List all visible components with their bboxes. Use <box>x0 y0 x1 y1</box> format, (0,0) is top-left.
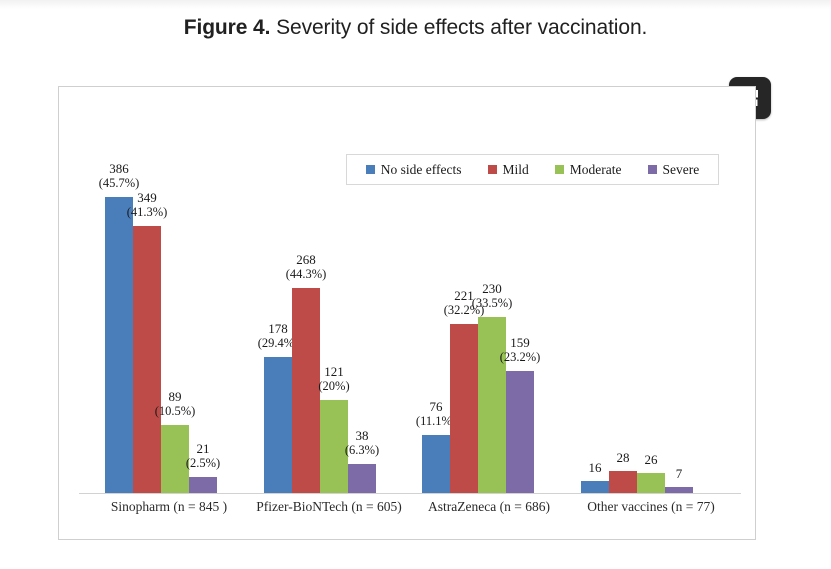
bar-severe[interactable]: 21 (2.5%) <box>189 477 217 493</box>
bar-mild[interactable]: 268 (44.3%) <box>292 288 320 493</box>
bar-label-no-side-effects: 386 (45.7%) <box>99 161 140 191</box>
chart-legend: No side effects Mild Moderate Severe <box>346 154 719 185</box>
page-title: Figure 4. Severity of side effects after… <box>0 16 831 40</box>
x-label-other-vaccines: Other vaccines (n = 77) <box>561 499 741 515</box>
bar-label-severe: 7 <box>676 466 683 481</box>
bar-severe[interactable]: 159 (23.2%) <box>506 371 534 493</box>
bar-label-moderate: 26 <box>645 452 658 467</box>
figure-caption: Severity of side effects after vaccinati… <box>270 16 647 39</box>
x-label-sinopharm: Sinopharm (n = 845 ) <box>79 499 259 515</box>
bar-severe[interactable]: 7 <box>665 487 693 493</box>
bar-chart: No side effects Mild Moderate Severe 386… <box>59 87 757 541</box>
legend-label-moderate: Moderate <box>570 162 622 178</box>
bar-group-astrazeneca: 76 (11.1%) 221 (32.2%) 230 (33.5%) <box>422 317 534 493</box>
bar-mild[interactable]: 221 (32.2%) <box>450 324 478 493</box>
bar-label-moderate: 230 (33.5%) <box>472 281 513 311</box>
legend-swatch-mild <box>488 165 497 174</box>
bar-label-severe: 21 (2.5%) <box>186 441 220 471</box>
legend-item-mild: Mild <box>488 162 529 178</box>
bar-group-sinopharm: 386 (45.7%) 349 (41.3%) 89 (10.5%) <box>105 197 217 493</box>
bar-moderate[interactable]: 89 (10.5%) <box>161 425 189 493</box>
legend-item-no-side-effects: No side effects <box>366 162 462 178</box>
legend-label-severe: Severe <box>663 162 700 178</box>
figure-number: Figure 4. <box>184 16 271 39</box>
bar-moderate[interactable]: 26 <box>637 473 665 493</box>
bar-label-mild: 349 (41.3%) <box>127 190 168 220</box>
bar-no-side-effects[interactable]: 16 <box>581 481 609 493</box>
x-label-astrazeneca: AstraZeneca (n = 686) <box>399 499 579 515</box>
bar-label-severe: 159 (23.2%) <box>500 335 541 365</box>
legend-item-severe: Severe <box>648 162 700 178</box>
bar-label-no-side-effects: 16 <box>589 460 602 475</box>
bar-label-mild: 268 (44.3%) <box>286 252 327 282</box>
x-label-pfizer-biontech: Pfizer-BioNTech (n = 605) <box>234 499 424 515</box>
bar-severe[interactable]: 38 (6.3%) <box>348 464 376 493</box>
legend-item-moderate: Moderate <box>555 162 622 178</box>
bar-label-moderate: 121 (20%) <box>318 364 349 394</box>
x-axis-line <box>79 493 741 494</box>
bar-moderate[interactable]: 121 (20%) <box>320 400 348 493</box>
bar-group-other-vaccines: 16 28 26 7 <box>581 471 693 493</box>
legend-label-mild: Mild <box>503 162 529 178</box>
bar-mild[interactable]: 349 (41.3%) <box>133 226 161 493</box>
figure-card: No side effects Mild Moderate Severe 386… <box>58 86 756 540</box>
bar-mild[interactable]: 28 <box>609 471 637 493</box>
bar-label-mild: 28 <box>617 450 630 465</box>
bar-no-side-effects[interactable]: 386 (45.7%) <box>105 197 133 493</box>
bar-no-side-effects[interactable]: 76 (11.1%) <box>422 435 450 493</box>
x-axis-labels: Sinopharm (n = 845 ) Pfizer-BioNTech (n … <box>79 499 741 529</box>
bar-label-moderate: 89 (10.5%) <box>155 389 196 419</box>
legend-label-no-side-effects: No side effects <box>381 162 462 178</box>
legend-swatch-severe <box>648 165 657 174</box>
legend-swatch-moderate <box>555 165 564 174</box>
bar-no-side-effects[interactable]: 178 (29.4%) <box>264 357 292 493</box>
bar-group-pfizer-biontech: 178 (29.4%) 268 (44.3%) 121 (20%) <box>264 288 376 493</box>
page-top-strip <box>0 0 831 9</box>
bar-label-severe: 38 (6.3%) <box>345 428 379 458</box>
legend-swatch-no-side-effects <box>366 165 375 174</box>
